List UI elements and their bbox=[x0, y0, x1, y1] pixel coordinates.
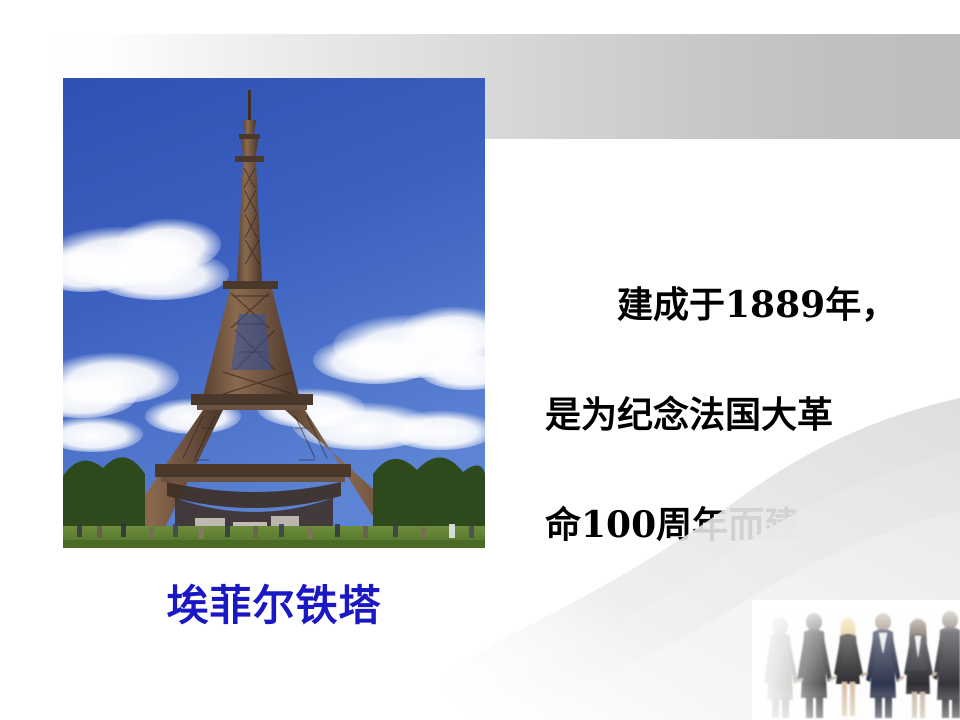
people-holding-hands-illustration bbox=[752, 600, 960, 720]
eiffel-tower-photo bbox=[63, 78, 485, 548]
body-paragraph: 建成于1889年， 是为纪念法国大革 命100周年而建。 bbox=[545, 250, 945, 580]
eiffel-tower-illustration bbox=[63, 78, 485, 548]
body-line-3: 命100周年而建。 bbox=[545, 470, 945, 580]
body-line-2: 是为纪念法国大革 bbox=[545, 360, 945, 470]
slide-canvas: 埃菲尔铁塔 建成于1889年， 是为纪念法国大革 命100周年而建。 bbox=[0, 0, 960, 720]
figure-caption: 埃菲尔铁塔 bbox=[63, 583, 485, 628]
body-line-1: 建成于1889年， bbox=[545, 250, 945, 360]
business-people-photo bbox=[752, 600, 960, 720]
